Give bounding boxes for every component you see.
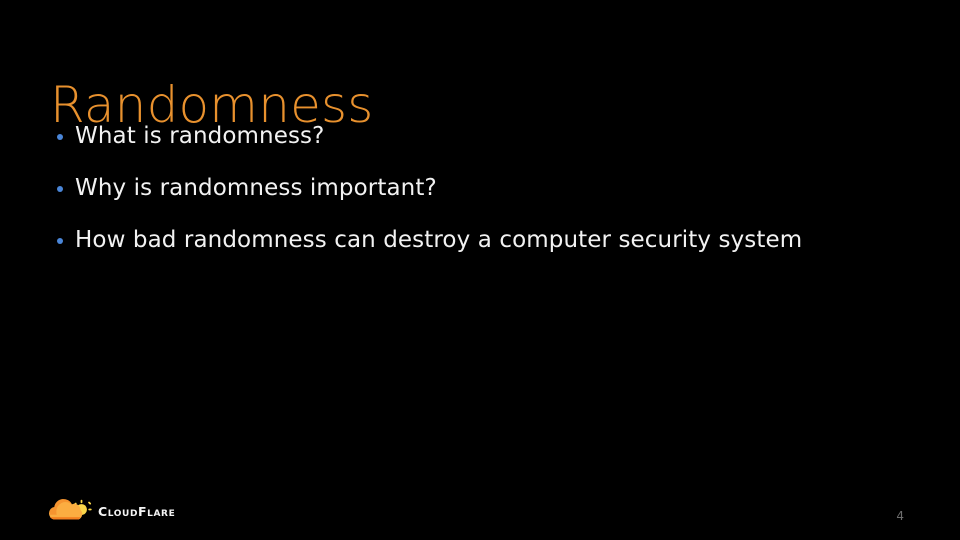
cloudflare-logo: CloudFlare xyxy=(48,498,175,526)
bullet-dot-icon xyxy=(57,134,63,140)
bullet-item-1: What is randomness? xyxy=(50,124,910,148)
bullet-list: What is randomness? Why is randomness im… xyxy=(50,124,910,280)
bullet-item-label: What is randomness? xyxy=(75,123,324,149)
presentation-slide: Randomness What is randomness? Why is ra… xyxy=(0,0,960,540)
bullet-item-label: How bad randomness can destroy a compute… xyxy=(75,227,802,253)
bullet-dot-icon xyxy=(57,186,63,192)
cloudflare-cloud-sun-icon xyxy=(48,499,92,525)
cloudflare-wordmark: CloudFlare xyxy=(98,506,175,519)
bullet-dot-icon xyxy=(57,238,63,244)
bullet-item-label: Why is randomness important? xyxy=(75,175,437,201)
bullet-item-3: How bad randomness can destroy a compute… xyxy=(50,228,910,252)
bullet-item-2: Why is randomness important? xyxy=(50,176,910,200)
page-number: 4 xyxy=(896,510,904,522)
